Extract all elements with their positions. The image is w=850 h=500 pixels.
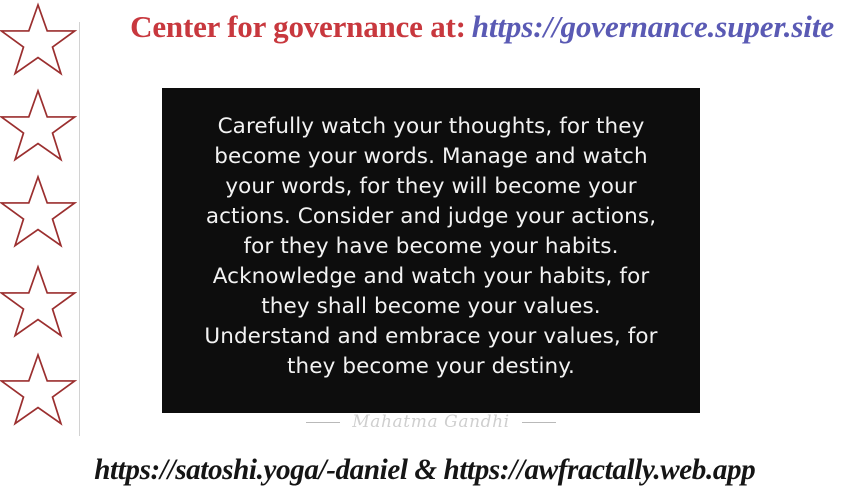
star-decoration-column — [0, 0, 80, 440]
star-outline-icon — [0, 174, 77, 250]
attribution-dash-right-icon — [522, 422, 556, 423]
quote-attribution: Mahatma Gandhi — [184, 412, 678, 432]
footer-links-bar: https://satoshi.yoga/-daniel & https://a… — [0, 447, 850, 493]
page-canvas: Center for governance at:https://governa… — [0, 0, 850, 500]
page-title: Center for governance at: — [130, 9, 466, 44]
governance-site-link[interactable]: https://governance.super.site — [472, 9, 834, 44]
star-outline-icon — [0, 352, 77, 428]
quote-author-name: Mahatma Gandhi — [352, 412, 509, 432]
quote-card: Carefully watch your thoughts, for they … — [162, 88, 700, 413]
attribution-dash-left-icon — [306, 422, 340, 423]
star-outline-icon — [0, 88, 77, 164]
header-banner: Center for governance at:https://governa… — [0, 9, 850, 53]
star-outline-icon — [0, 264, 77, 340]
vertical-divider — [79, 22, 80, 436]
quote-body-text: Carefully watch your thoughts, for they … — [196, 112, 666, 382]
footer-links-text[interactable]: https://satoshi.yoga/-daniel & https://a… — [94, 453, 755, 487]
